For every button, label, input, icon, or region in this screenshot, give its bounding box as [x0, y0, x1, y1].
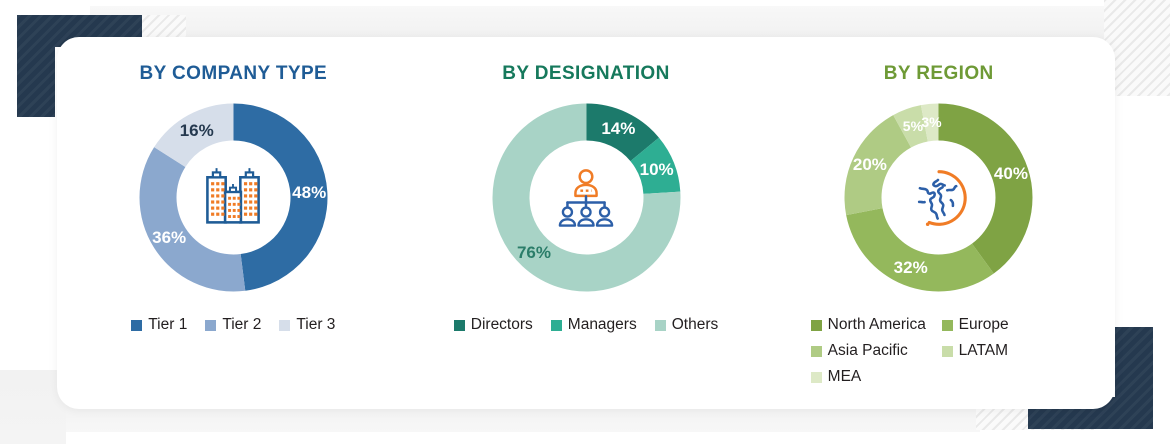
legend-swatch-icon [551, 320, 562, 331]
infographic-stage: BY COMPANY TYPE [0, 0, 1170, 444]
globe-icon [893, 152, 985, 244]
legend-item-label: Tier 1 [148, 314, 187, 336]
legend-item-label: Europe [959, 314, 1009, 336]
legend-swatch-icon [811, 346, 822, 357]
legend-region: North AmericaEuropeAsia PacificLATAMMEA [811, 314, 1073, 388]
legend-item-label: Managers [568, 314, 637, 336]
legend-item-label: Directors [471, 314, 533, 336]
legend-swatch-icon [205, 320, 216, 331]
org-hierarchy-icon [540, 152, 632, 244]
legend-item[interactable]: Tier 1 [131, 314, 187, 336]
legend-swatch-icon [279, 320, 290, 331]
legend-item[interactable]: North America [811, 314, 942, 336]
donut-region: 40%32%20%5%3% [836, 95, 1041, 300]
charts-row: BY COMPANY TYPE [57, 37, 1115, 409]
legend-item[interactable]: Tier 3 [279, 314, 335, 336]
legend-swatch-icon [655, 320, 666, 331]
legend-item-label: Others [672, 314, 719, 336]
legend-item-label: Tier 3 [296, 314, 335, 336]
legend-swatch-icon [811, 372, 822, 383]
legend-item[interactable]: Europe [942, 314, 1073, 336]
office-buildings-icon [187, 152, 279, 244]
legend-swatch-icon [454, 320, 465, 331]
legend-designation: DirectorsManagersOthers [454, 314, 718, 336]
legend-item-label: Asia Pacific [828, 340, 908, 362]
donut-company-type: 48%36%16% [131, 95, 336, 300]
legend-item[interactable]: Others [655, 314, 719, 336]
legend-item-label: Tier 2 [222, 314, 261, 336]
legend-item[interactable]: LATAM [942, 340, 1073, 362]
charts-card: BY COMPANY TYPE [57, 37, 1115, 409]
legend-item-label: North America [828, 314, 926, 336]
chart-by-region: BY REGION [762, 37, 1115, 409]
legend-item-label: MEA [828, 366, 862, 388]
legend-item[interactable]: Managers [551, 314, 637, 336]
chart-title-region: BY REGION [884, 63, 994, 85]
legend-item[interactable]: MEA [811, 366, 942, 388]
legend-item[interactable]: Tier 2 [205, 314, 261, 336]
legend-item[interactable]: Asia Pacific [811, 340, 942, 362]
donut-designation: 14%10%76% [484, 95, 689, 300]
legend-swatch-icon [811, 320, 822, 331]
legend-company-type: Tier 1Tier 2Tier 3 [131, 314, 335, 336]
chart-title-company-type: BY COMPANY TYPE [140, 63, 328, 85]
chart-by-company-type: BY COMPANY TYPE [57, 37, 410, 409]
legend-swatch-icon [131, 320, 142, 331]
legend-swatch-icon [942, 346, 953, 357]
chart-title-designation: BY DESIGNATION [502, 63, 669, 85]
legend-item[interactable]: Directors [454, 314, 533, 336]
legend-item-label: LATAM [959, 340, 1008, 362]
chart-by-designation: BY DESIGNATION [410, 37, 763, 409]
legend-swatch-icon [942, 320, 953, 331]
